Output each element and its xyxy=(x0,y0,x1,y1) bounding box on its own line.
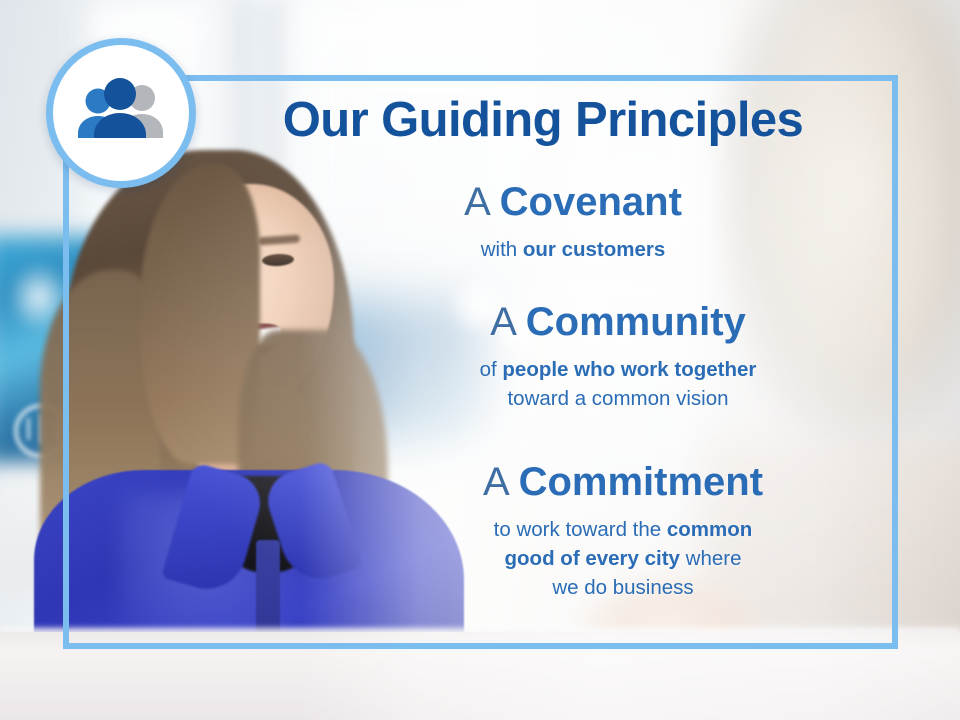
page-title: Our Guiding Principles xyxy=(213,95,873,146)
plain-text: of xyxy=(480,358,503,381)
principle-article: A xyxy=(490,300,514,344)
emphasis-text: good of every city xyxy=(505,547,680,570)
principle-description: to work toward the commongood of every c… xyxy=(343,515,903,602)
principle-block-community: A Community of people who work togethert… xyxy=(338,300,898,413)
principle-block-commitment: A Commitment to work toward the commongo… xyxy=(343,460,903,602)
principle-word: Commitment xyxy=(519,460,763,504)
principle-article: A xyxy=(464,180,488,224)
plain-text: we do business xyxy=(552,576,693,599)
principle-heading: A Covenant xyxy=(293,180,853,225)
copy-container: Our Guiding Principles A Covenant with o… xyxy=(63,75,898,649)
principle-block-covenant: A Covenant with our customers xyxy=(293,180,853,264)
emphasis-text: people who work together xyxy=(502,358,756,381)
principle-word: Community xyxy=(526,300,746,344)
principle-heading: A Community xyxy=(338,300,898,345)
plain-text: toward a common vision xyxy=(507,387,728,410)
plain-text: to work toward the xyxy=(494,518,667,541)
description-line: good of every city where xyxy=(343,544,903,573)
description-line: toward a common vision xyxy=(338,384,898,413)
plain-text: where xyxy=(680,547,742,570)
emphasis-text: our customers xyxy=(523,238,665,261)
principle-word: Covenant xyxy=(500,180,682,224)
emphasis-text: common xyxy=(667,518,752,541)
description-line: of people who work together xyxy=(338,355,898,384)
description-line: with our customers xyxy=(293,235,853,264)
description-line: to work toward the common xyxy=(343,515,903,544)
principle-description: of people who work togethertoward a comm… xyxy=(338,355,898,413)
description-line: we do business xyxy=(343,573,903,602)
plain-text: with xyxy=(481,238,523,261)
guiding-principles-graphic: FLOW AUTOMOTIVE FLOW xyxy=(0,0,960,720)
principle-heading: A Commitment xyxy=(343,460,903,505)
principle-description: with our customers xyxy=(293,235,853,264)
principle-article: A xyxy=(483,460,507,504)
